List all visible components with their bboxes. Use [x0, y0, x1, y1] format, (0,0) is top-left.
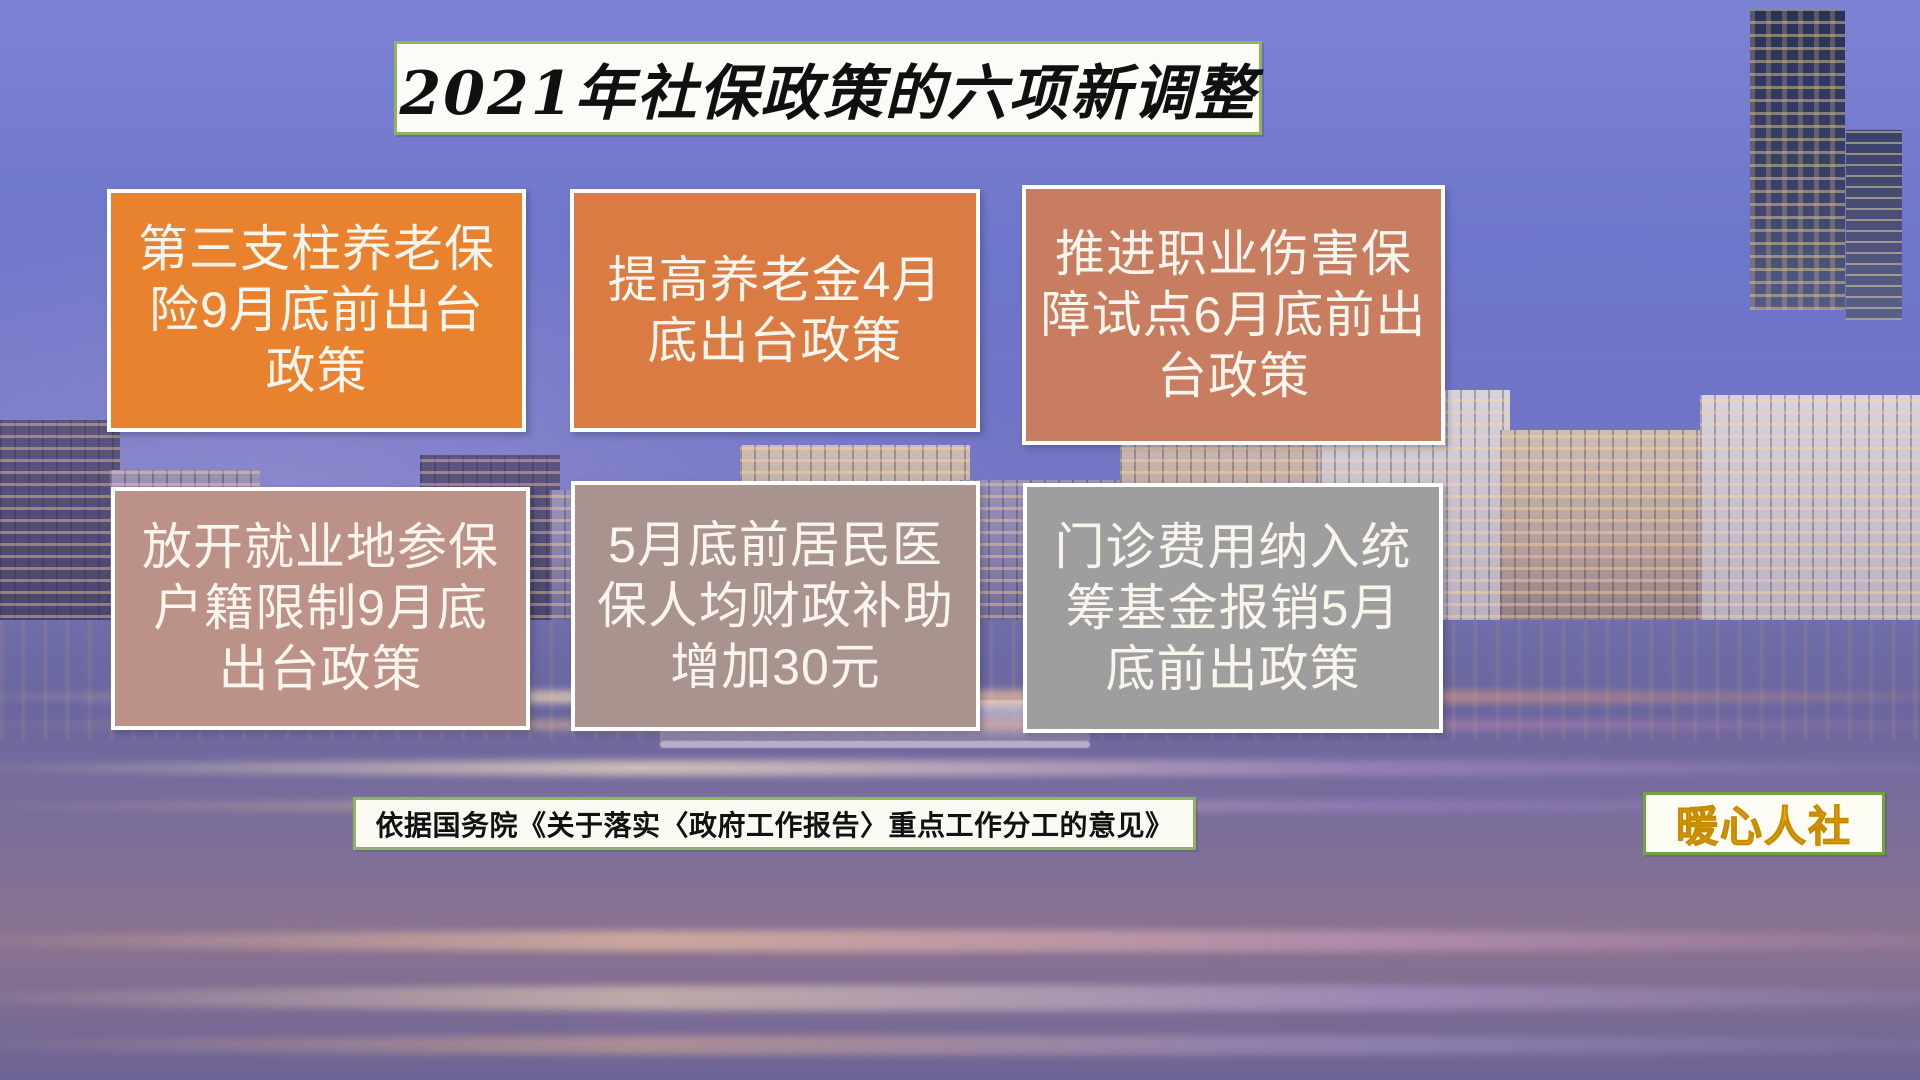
brand-logo-text: 暖心人社: [1676, 793, 1852, 854]
policy-card-3[interactable]: 推进职业伤害保障试点6月底前出台政策: [1022, 185, 1445, 445]
policy-card-4[interactable]: 放开就业地参保户籍限制9月底出台政策: [111, 487, 530, 730]
policy-card-grid: 第三支柱养老保险9月底前出台政策 提高养老金4月底出台政策 推进职业伤害保障试点…: [0, 0, 1920, 1080]
policy-card-5-text: 5月底前居民医保人均财政补助增加30元: [575, 509, 976, 704]
policy-card-6-text: 门诊费用纳入统筹基金报销5月底前出政策: [1027, 511, 1439, 706]
policy-card-3-text: 推进职业伤害保障试点6月底前出台政策: [1026, 218, 1441, 413]
source-text: 依据国务院《关于落实〈政府工作报告〉重点工作分工的意见》: [375, 804, 1173, 844]
policy-card-1[interactable]: 第三支柱养老保险9月底前出台政策: [107, 189, 526, 432]
source-banner: 依据国务院《关于落实〈政府工作报告〉重点工作分工的意见》: [353, 797, 1196, 850]
policy-card-5[interactable]: 5月底前居民医保人均财政补助增加30元: [571, 481, 980, 731]
policy-card-2[interactable]: 提高养老金4月底出台政策: [570, 189, 980, 432]
policy-card-4-text: 放开就业地参保户籍限制9月底出台政策: [115, 511, 526, 706]
policy-card-6[interactable]: 门诊费用纳入统筹基金报销5月底前出政策: [1023, 483, 1443, 733]
policy-card-2-text: 提高养老金4月底出台政策: [574, 244, 976, 378]
brand-logo: 暖心人社: [1643, 792, 1885, 855]
policy-card-1-text: 第三支柱养老保险9月底前出台政策: [111, 213, 522, 408]
